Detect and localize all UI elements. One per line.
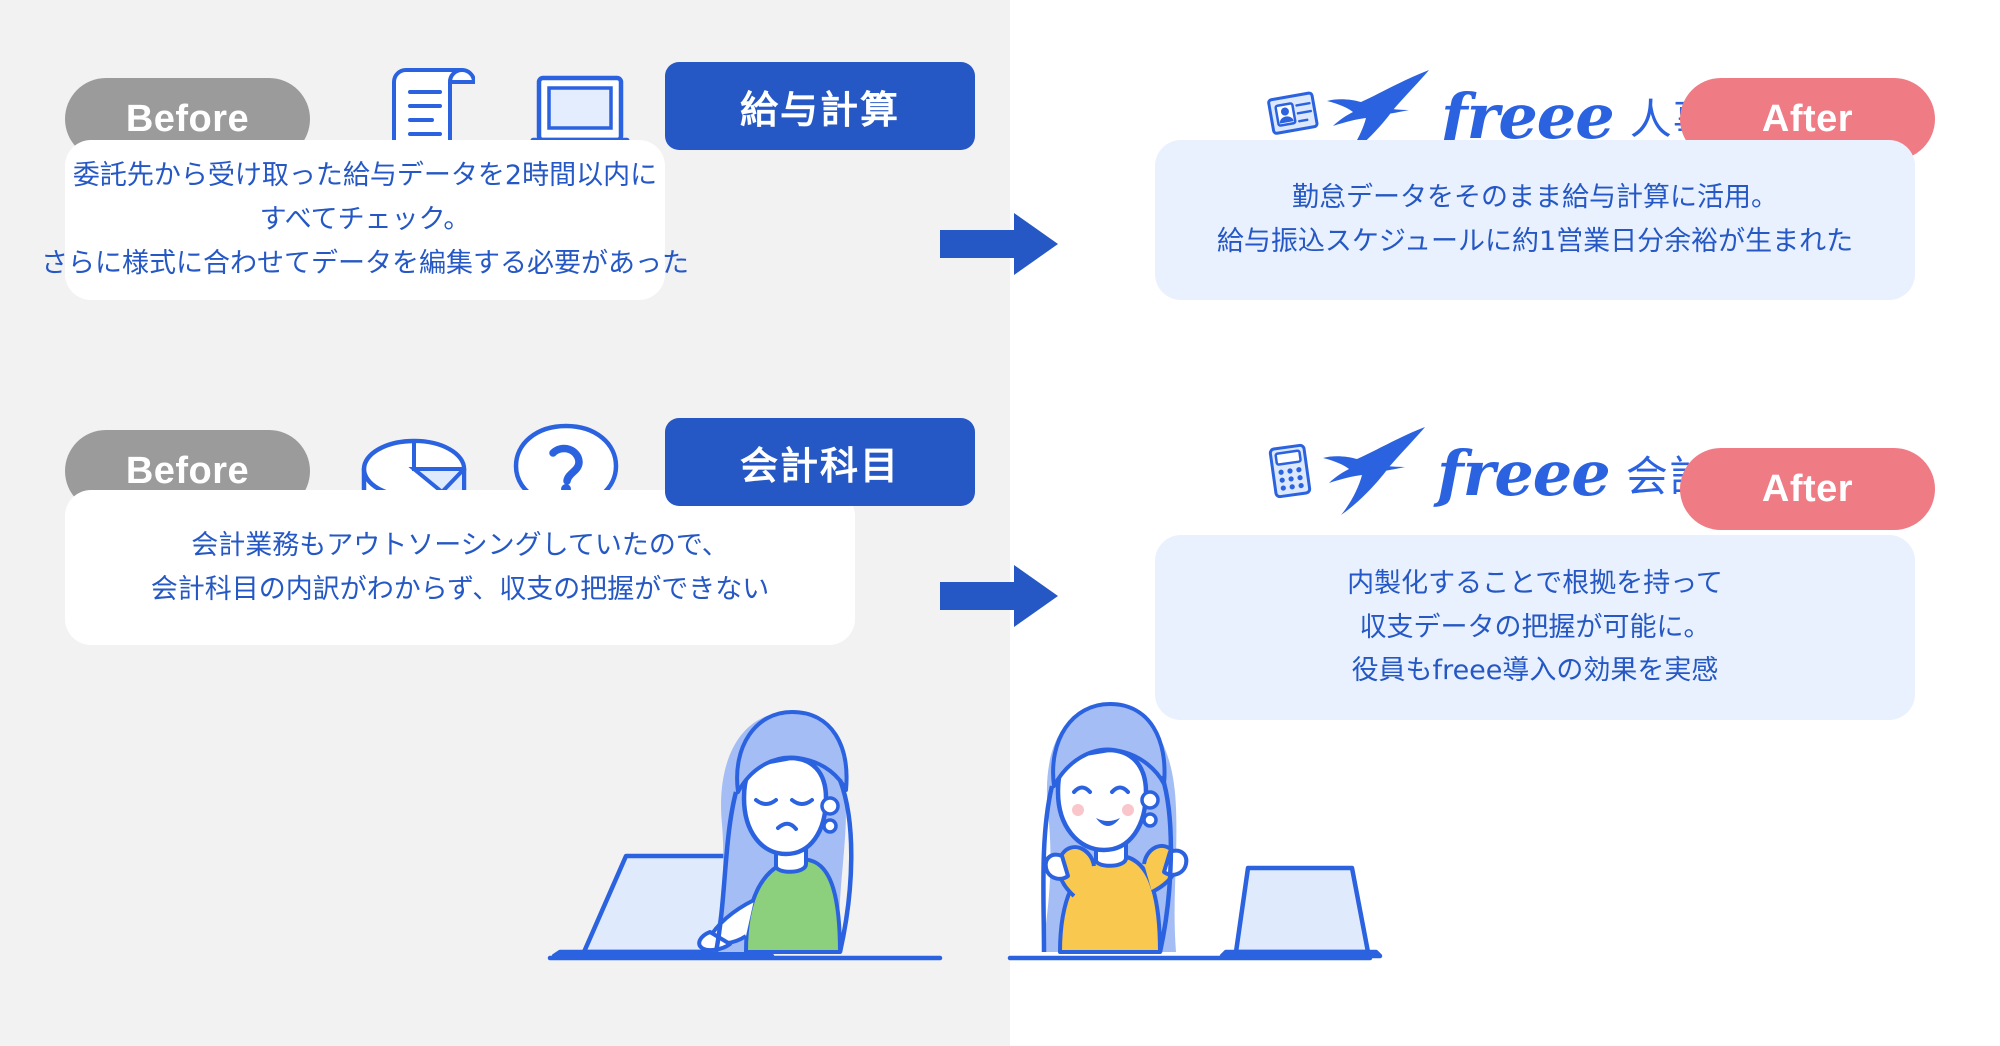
after-badge-label: After: [1762, 98, 1853, 141]
right-arrow-icon: [940, 565, 1060, 632]
after-text-line: 給与振込スケジュールに約1営業日分余裕が生まれた: [1217, 220, 1853, 264]
before-badge-label: Before: [126, 450, 249, 493]
right-arrow-icon: [940, 213, 1060, 280]
after-text-line: 内製化することで根拠を持って: [1347, 562, 1723, 606]
freee-bird-icon: [1313, 425, 1431, 522]
worried-woman-laptop-illustration: [540, 660, 960, 985]
freee-wordmark: freee: [1441, 86, 1614, 148]
before-card-payroll: 委託先から受け取った給与データを2時間以内に すべてチェック。 さらに様式に合わ…: [65, 140, 665, 300]
before-text-line: すべてチェック。: [260, 198, 471, 242]
after-text-line: 勤怠データをそのまま給与計算に活用。: [1292, 176, 1778, 220]
after-card-payroll: 勤怠データをそのまま給与計算に活用。 給与振込スケジュールに約1営業日分余裕が生…: [1155, 140, 1915, 300]
after-text-line: 収支データの把握が可能に。: [1360, 606, 1711, 650]
after-badge-label: After: [1762, 468, 1853, 511]
comparison-stage: Before 委託先から受け取った給与データを2時間以内に すべてチェック。 さ…: [0, 0, 2000, 1046]
happy-woman-laptop-illustration: [1000, 660, 1400, 985]
before-text-line: 会計業務もアウトソーシングしていたので、: [191, 524, 729, 568]
before-text-line: さらに様式に合わせてデータを編集する必要があった: [41, 242, 689, 286]
calculator-icon: [1265, 443, 1315, 504]
topic-badge-label: 給与計算: [740, 79, 900, 134]
topic-badge-payroll: 給与計算: [665, 62, 975, 150]
after-text-line: 役員もfreee導入の効果を実感: [1352, 649, 1719, 693]
freee-kaikei-logo: freee 会計: [1265, 425, 1712, 522]
after-badge-accounting: After: [1680, 448, 1935, 530]
before-text-line: 会計科目の内訳がわからず、収支の把握ができない: [151, 568, 770, 612]
topic-badge-accounting: 会計科目: [665, 418, 975, 506]
before-badge-label: Before: [126, 98, 249, 141]
freee-wordmark: freee: [1437, 443, 1610, 505]
topic-badge-label: 会計科目: [740, 435, 900, 490]
before-card-accounting: 会計業務もアウトソーシングしていたので、 会計科目の内訳がわからず、収支の把握が…: [65, 490, 855, 645]
id-card-icon: [1265, 88, 1323, 145]
before-text-line: 委託先から受け取った給与データを2時間以内に: [73, 154, 657, 198]
